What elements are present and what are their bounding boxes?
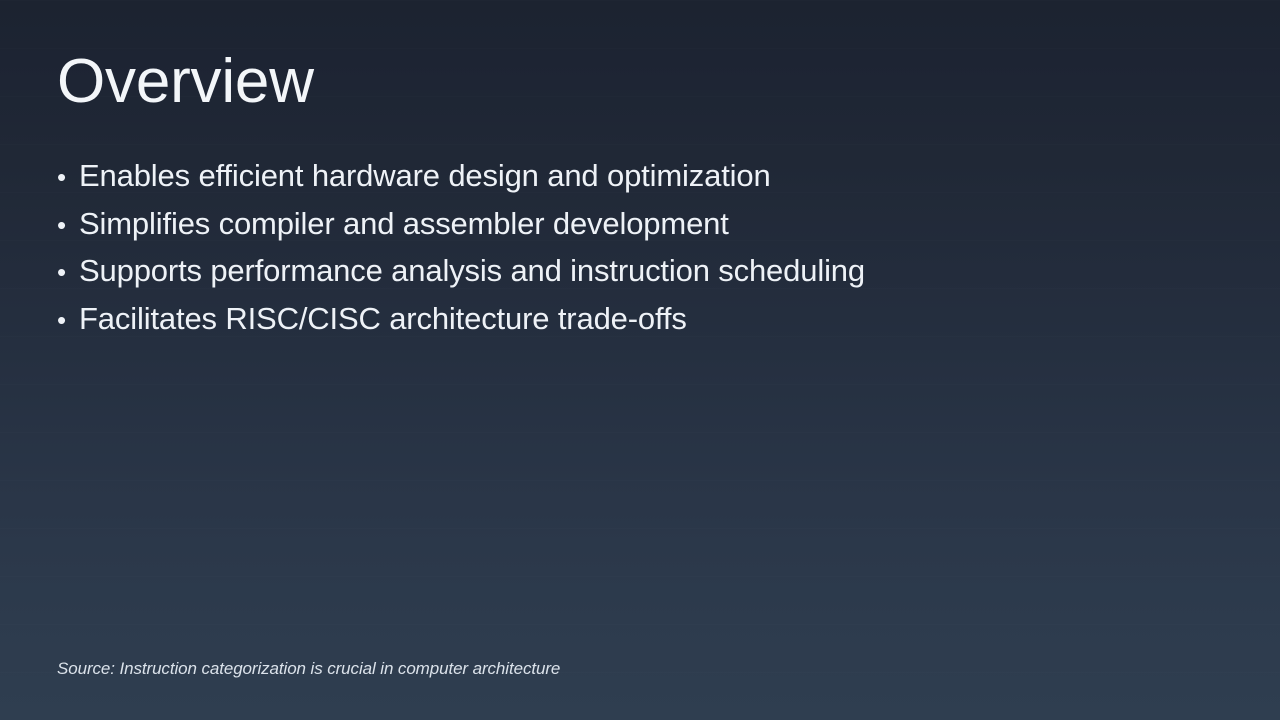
bullet-dot-icon: •: [57, 297, 79, 345]
list-item-label: Facilitates RISC/CISC architecture trade…: [79, 295, 687, 343]
bullet-dot-icon: •: [57, 202, 79, 250]
presentation-slide: Overview • Enables efficient hardware de…: [0, 0, 1280, 720]
list-item: • Enables efficient hardware design and …: [57, 152, 1227, 200]
list-item-label: Simplifies compiler and assembler develo…: [79, 200, 729, 248]
source-note: Source: Instruction categorization is cr…: [57, 657, 560, 681]
slide-content: Overview • Enables efficient hardware de…: [0, 0, 1280, 720]
list-item: • Facilitates RISC/CISC architecture tra…: [57, 295, 1227, 343]
list-item: • Simplifies compiler and assembler deve…: [57, 200, 1227, 248]
bullet-dot-icon: •: [57, 154, 79, 202]
list-item-label: Supports performance analysis and instru…: [79, 247, 865, 295]
list-item: • Supports performance analysis and inst…: [57, 247, 1227, 295]
bullet-list: • Enables efficient hardware design and …: [57, 152, 1227, 343]
page-title: Overview: [57, 50, 314, 114]
bullet-dot-icon: •: [57, 249, 79, 297]
list-item-label: Enables efficient hardware design and op…: [79, 152, 771, 200]
